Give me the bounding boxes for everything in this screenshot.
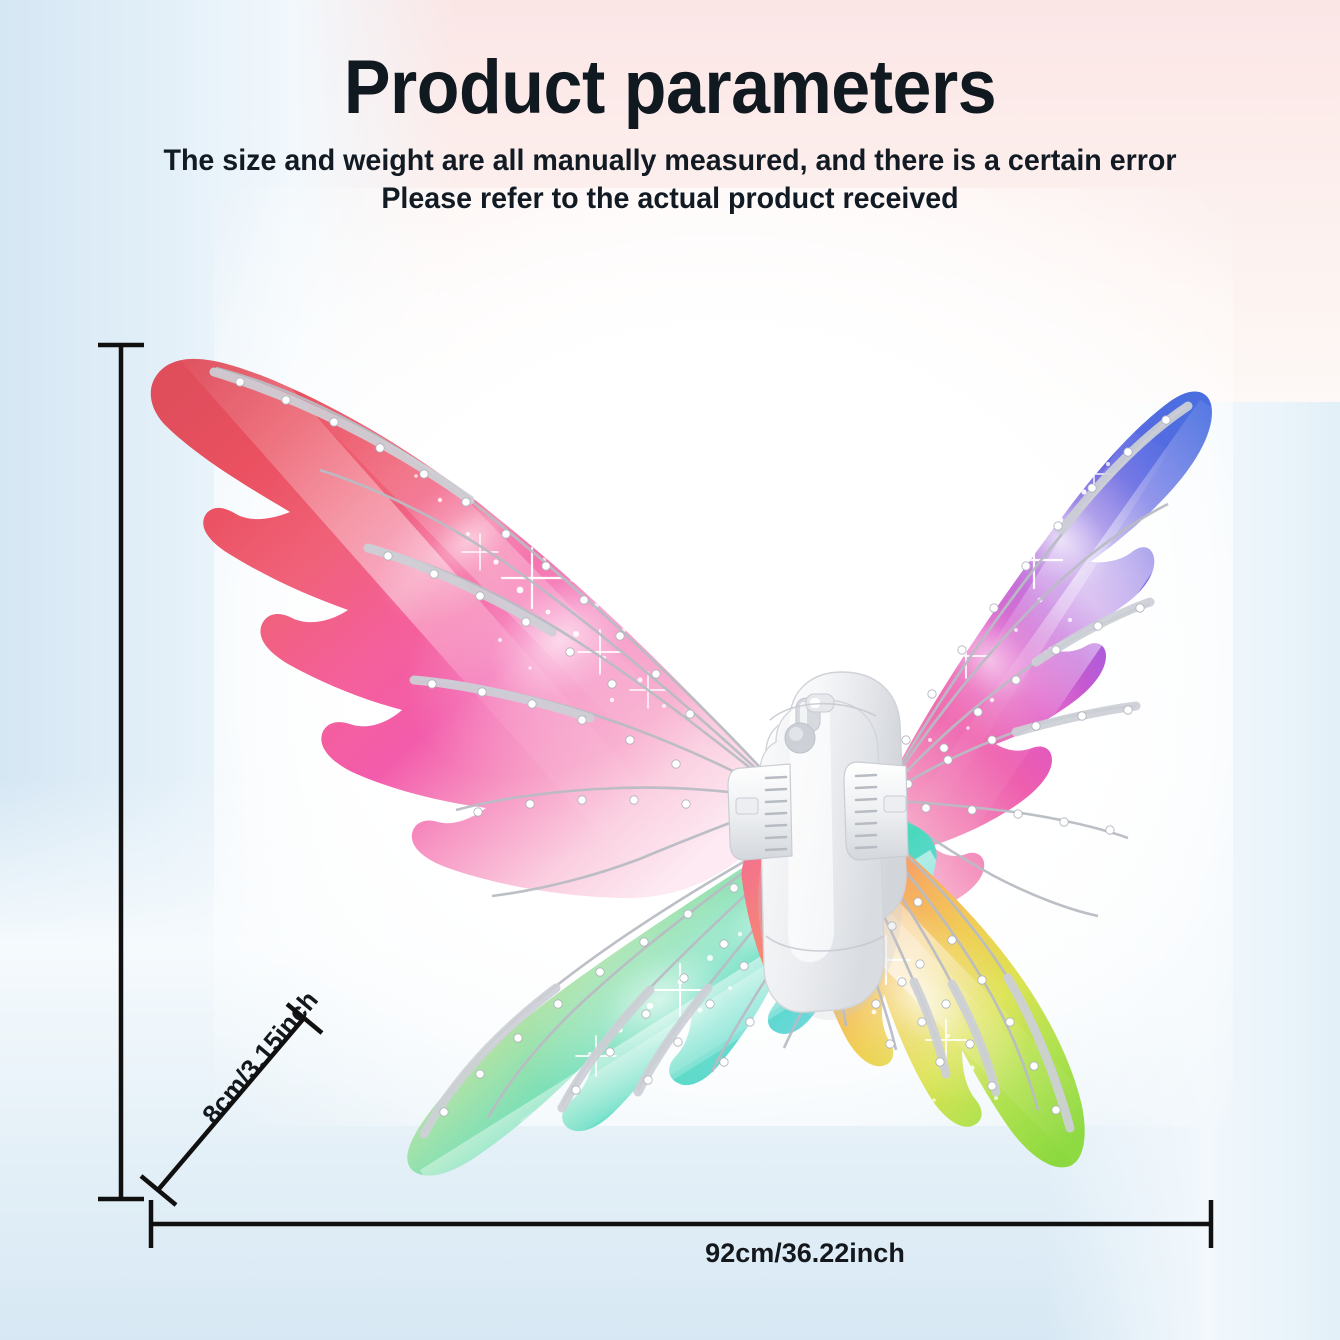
- upper-left-wing: [151, 330, 790, 898]
- right-clamp-vent: [844, 762, 908, 860]
- subtitle-line-1: The size and weight are all manually mea…: [20, 142, 1320, 180]
- subtitle-line-2: Please refer to the actual product recei…: [20, 180, 1320, 218]
- header-block: Product parameters The size and weight a…: [0, 48, 1340, 217]
- page-title: Product parameters: [54, 48, 1287, 128]
- left-clamp-vent: [728, 764, 792, 860]
- infographic-canvas: Product parameters The size and weight a…: [0, 0, 1340, 1340]
